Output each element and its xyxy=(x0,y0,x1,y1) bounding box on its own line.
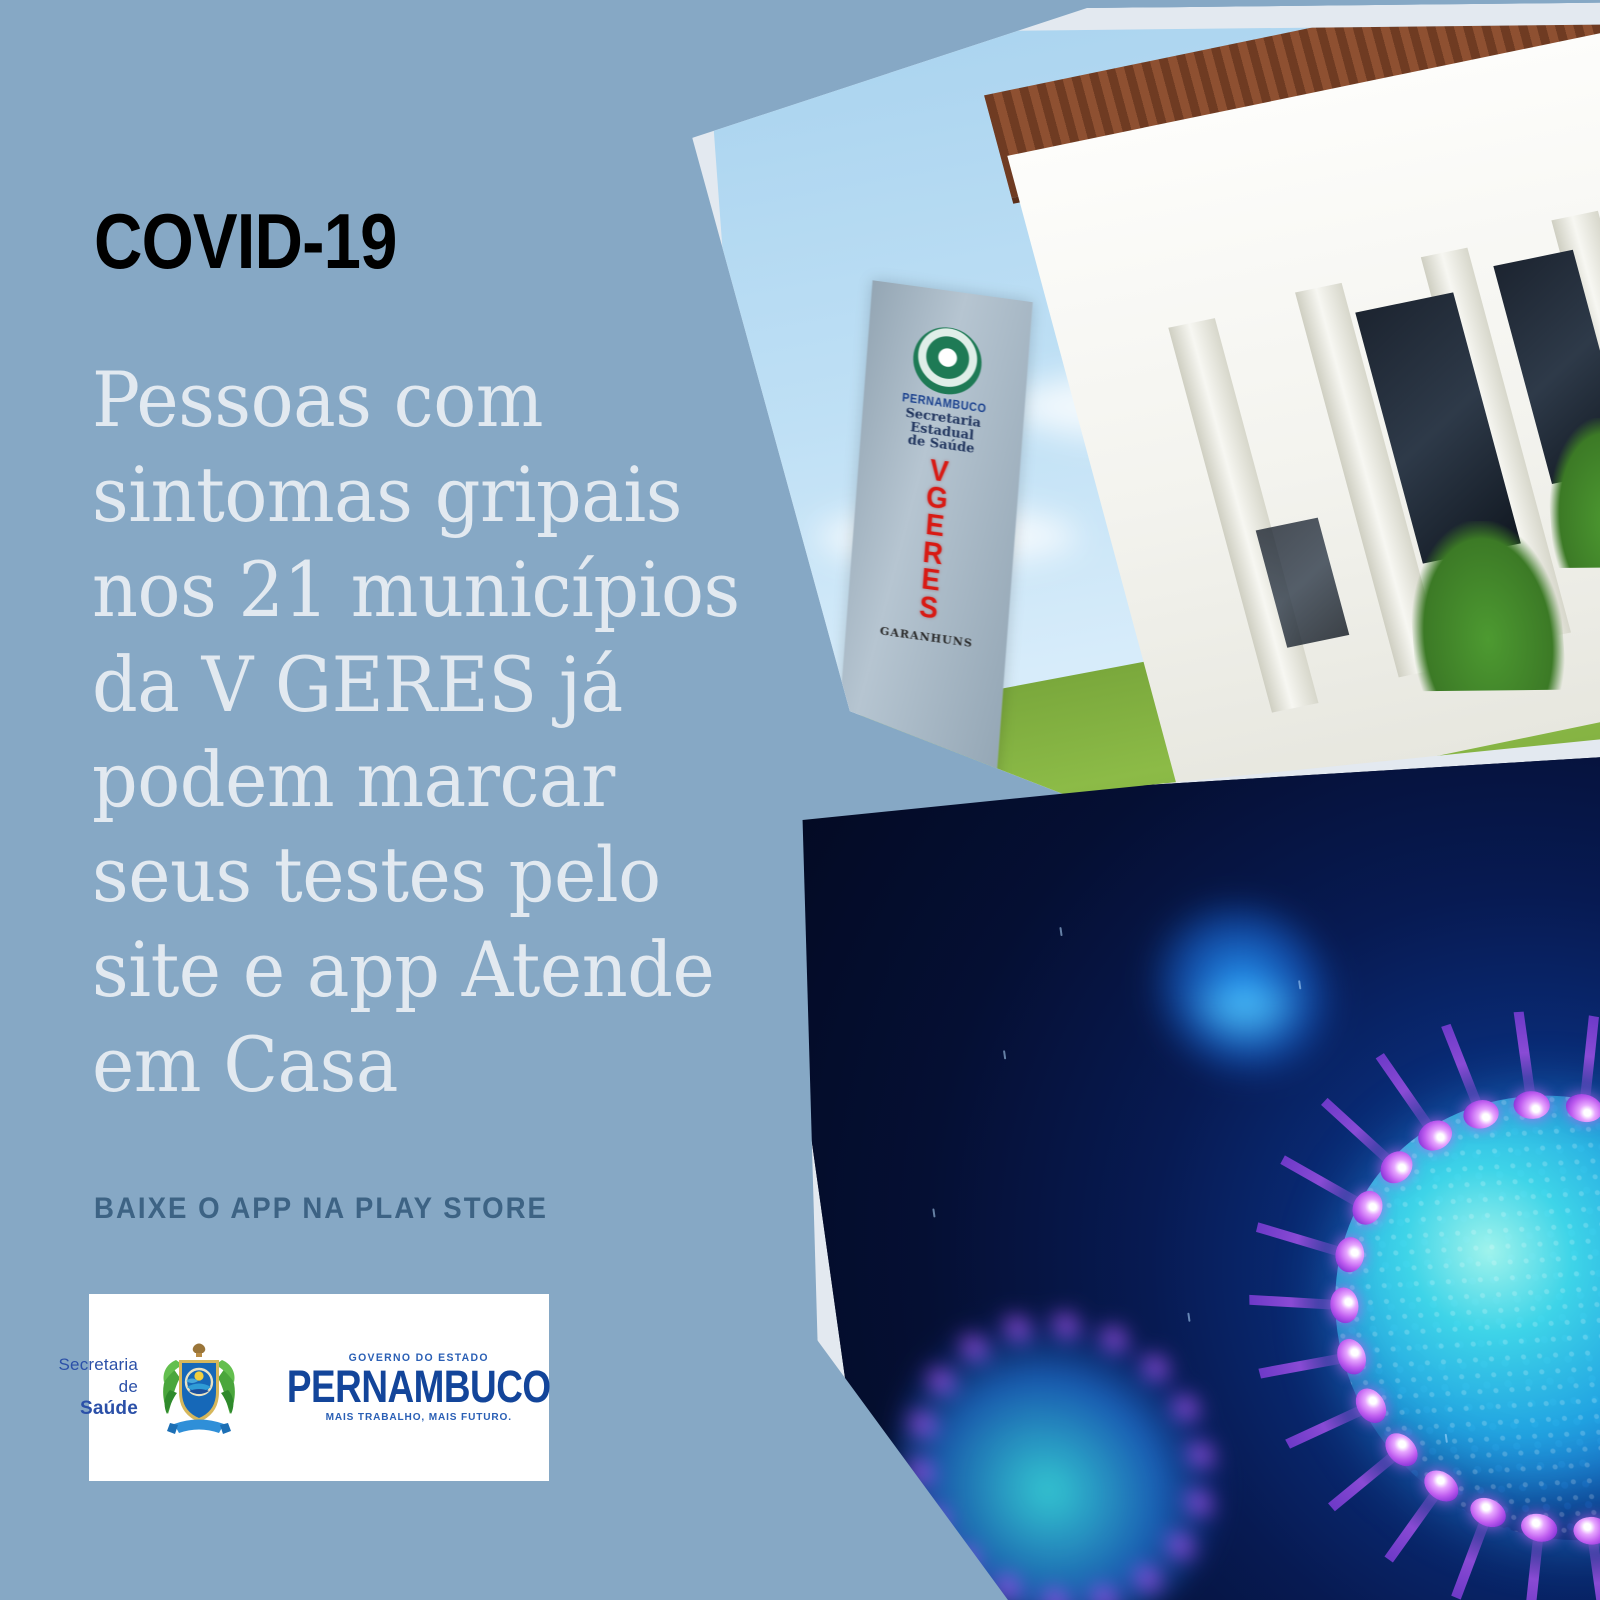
virus-spike-blurred xyxy=(907,1410,937,1437)
virus-spike-blurred xyxy=(1051,1312,1081,1339)
virus-spike xyxy=(1259,1352,1351,1378)
virus-spike xyxy=(1442,1024,1486,1114)
virus-spike-blurred xyxy=(1184,1489,1214,1516)
body-line: da V GERES já xyxy=(92,637,806,732)
dust-speck xyxy=(1187,1312,1190,1321)
photo-coronavirus xyxy=(740,729,1600,1600)
secretaria-line-1: Secretaria de xyxy=(59,1354,138,1397)
virus-spike-blurred xyxy=(921,1505,951,1532)
sign-unit-label: VGERES xyxy=(853,448,1013,632)
virus-spike-blurred xyxy=(993,1574,1023,1600)
virus-spike-blurred xyxy=(1171,1394,1201,1421)
body-line: em Casa xyxy=(92,1017,806,1112)
virus-spike xyxy=(1580,1015,1600,1107)
virus-particle-main xyxy=(1243,1023,1600,1600)
secretaria-saude-logo: Secretaria de Saúde xyxy=(59,1354,156,1420)
virus-spike xyxy=(1281,1155,1369,1211)
virus-spike-blurred xyxy=(959,1334,989,1361)
virus-particle-blurred xyxy=(872,1290,1248,1600)
virus-spike-blurred xyxy=(1002,1315,1032,1342)
state-wordmark: PERNAMBUCO xyxy=(287,1364,551,1410)
virus-spike-blurred xyxy=(1186,1441,1216,1468)
governo-tagline: MAIS TRABALHO, MAIS FUTURO. xyxy=(264,1411,573,1423)
body-line: Pessoas com xyxy=(92,352,806,447)
body-copy: Pessoas com sintomas gripais nos 21 muni… xyxy=(92,352,806,1112)
palm-shape xyxy=(1404,521,1567,692)
palm-shape xyxy=(1543,417,1600,568)
logo-panel: Secretaria de Saúde xyxy=(89,1294,549,1481)
virus-spike xyxy=(1385,1484,1445,1562)
virus-spike xyxy=(1514,1011,1537,1103)
dust-speck xyxy=(1002,1050,1005,1059)
body-line: podem marcar xyxy=(92,732,806,827)
virus-spike-blurred xyxy=(1166,1532,1196,1559)
governo-pernambuco-logo: GOVERNO DO ESTADO PERNAMBUCO MAIS TRABAL… xyxy=(242,1352,580,1424)
virus-spike-blurred xyxy=(1041,1588,1071,1600)
virus-spike-blurred xyxy=(1089,1585,1119,1600)
cta-text[interactable]: BAIXE O APP NA PLAY STORE xyxy=(94,1192,548,1226)
page-title: COVID-19 xyxy=(94,202,397,280)
virus-spike-blurred xyxy=(1099,1325,1129,1352)
virus-spike-blurred xyxy=(951,1545,981,1572)
pernambuco-coat-of-arms-icon xyxy=(156,1338,242,1438)
virus-spike xyxy=(1525,1529,1545,1600)
virus-spike-blurred xyxy=(1141,1354,1171,1381)
virus-spike xyxy=(1250,1295,1343,1310)
photo-coronavirus-inner xyxy=(765,752,1600,1600)
body-line: nos 21 municípios xyxy=(92,542,806,637)
virus-spike xyxy=(1286,1402,1372,1449)
dust-speck xyxy=(932,1208,935,1217)
virus-spike xyxy=(1376,1053,1438,1136)
virus-spike xyxy=(1328,1447,1403,1511)
virus-spike xyxy=(1321,1098,1398,1169)
poster-canvas: PERNAMBUCO Secretaria Estadual de Saúde … xyxy=(0,0,1600,1600)
body-line: seus testes pelo xyxy=(92,827,806,922)
sign-crest-icon xyxy=(911,323,984,399)
virus-spike-blurred xyxy=(1133,1565,1163,1592)
body-line: site e app Atende xyxy=(92,922,806,1017)
virus-spike-blurred xyxy=(906,1458,936,1485)
virus-spike xyxy=(1256,1222,1349,1259)
virus-spike xyxy=(1587,1532,1600,1600)
secretaria-line-2: Saúde xyxy=(59,1397,138,1421)
body-line: sintomas gripais xyxy=(92,447,806,542)
dust-speck xyxy=(1059,927,1062,936)
virus-spike xyxy=(1452,1512,1493,1599)
virus-spike-blurred xyxy=(926,1367,956,1394)
